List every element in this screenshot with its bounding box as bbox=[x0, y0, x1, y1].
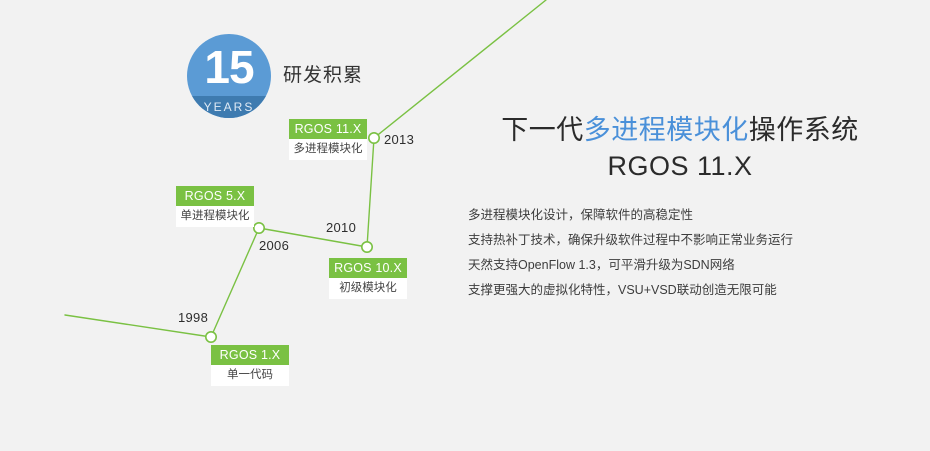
headline-suffix: 操作系统 bbox=[749, 115, 859, 145]
timeline-node-2013 bbox=[369, 133, 379, 143]
slide-canvas: 15 YEARS 研发积累 RGOS 11.X 多进程模块化 2013 RGOS… bbox=[0, 0, 930, 451]
headline-subtitle: RGOS 11.X bbox=[470, 148, 890, 184]
milestone-subtitle-rgos-10x: 初级模块化 bbox=[329, 278, 407, 299]
milestone-subtitle-rgos-11x: 多进程模块化 bbox=[289, 139, 367, 160]
milestone-subtitle-rgos-1x: 单一代码 bbox=[211, 365, 289, 386]
years-badge-unit: YEARS bbox=[187, 96, 271, 118]
milestone-title-rgos-10x: RGOS 10.X bbox=[329, 258, 407, 278]
milestone-year-1998: 1998 bbox=[178, 310, 208, 325]
feature-list: 多进程模块化设计，保障软件的高稳定性 支持热补丁技术，确保升级软件过程中不影响正… bbox=[468, 203, 793, 303]
timeline-node-2006 bbox=[254, 223, 264, 233]
headline-accent: 多进程模块化 bbox=[584, 115, 749, 145]
milestone-title-rgos-1x: RGOS 1.X bbox=[211, 345, 289, 365]
years-badge-caption: 研发积累 bbox=[283, 60, 363, 87]
page-title: 下一代多进程模块化操作系统 RGOS 11.X bbox=[470, 112, 890, 184]
milestone-year-2013: 2013 bbox=[384, 132, 414, 147]
feature-item-1: 多进程模块化设计，保障软件的高稳定性 bbox=[468, 203, 793, 228]
milestone-year-2006: 2006 bbox=[259, 238, 289, 253]
feature-item-3: 天然支持OpenFlow 1.3，可平滑升级为SDN网络 bbox=[468, 253, 793, 278]
milestone-card-rgos-10x[interactable]: RGOS 10.X 初级模块化 bbox=[329, 258, 407, 299]
feature-item-2: 支持热补丁技术，确保升级软件过程中不影响正常业务运行 bbox=[468, 228, 793, 253]
milestone-subtitle-rgos-5x: 单进程模块化 bbox=[176, 206, 254, 227]
milestone-title-rgos-11x: RGOS 11.X bbox=[289, 119, 367, 139]
timeline-node-1998 bbox=[206, 332, 216, 342]
milestone-card-rgos-1x[interactable]: RGOS 1.X 单一代码 bbox=[211, 345, 289, 386]
milestone-card-rgos-11x[interactable]: RGOS 11.X 多进程模块化 bbox=[289, 119, 367, 160]
milestone-card-rgos-5x[interactable]: RGOS 5.X 单进程模块化 bbox=[176, 186, 254, 227]
years-badge-number: 15 bbox=[187, 34, 271, 98]
timeline-node-2010 bbox=[362, 242, 372, 252]
years-badge: 15 YEARS bbox=[187, 34, 271, 118]
headline-prefix: 下一代 bbox=[501, 115, 584, 145]
feature-item-4: 支撑更强大的虚拟化特性，VSU+VSD联动创造无限可能 bbox=[468, 278, 793, 303]
milestone-year-2010: 2010 bbox=[326, 220, 356, 235]
milestone-title-rgos-5x: RGOS 5.X bbox=[176, 186, 254, 206]
